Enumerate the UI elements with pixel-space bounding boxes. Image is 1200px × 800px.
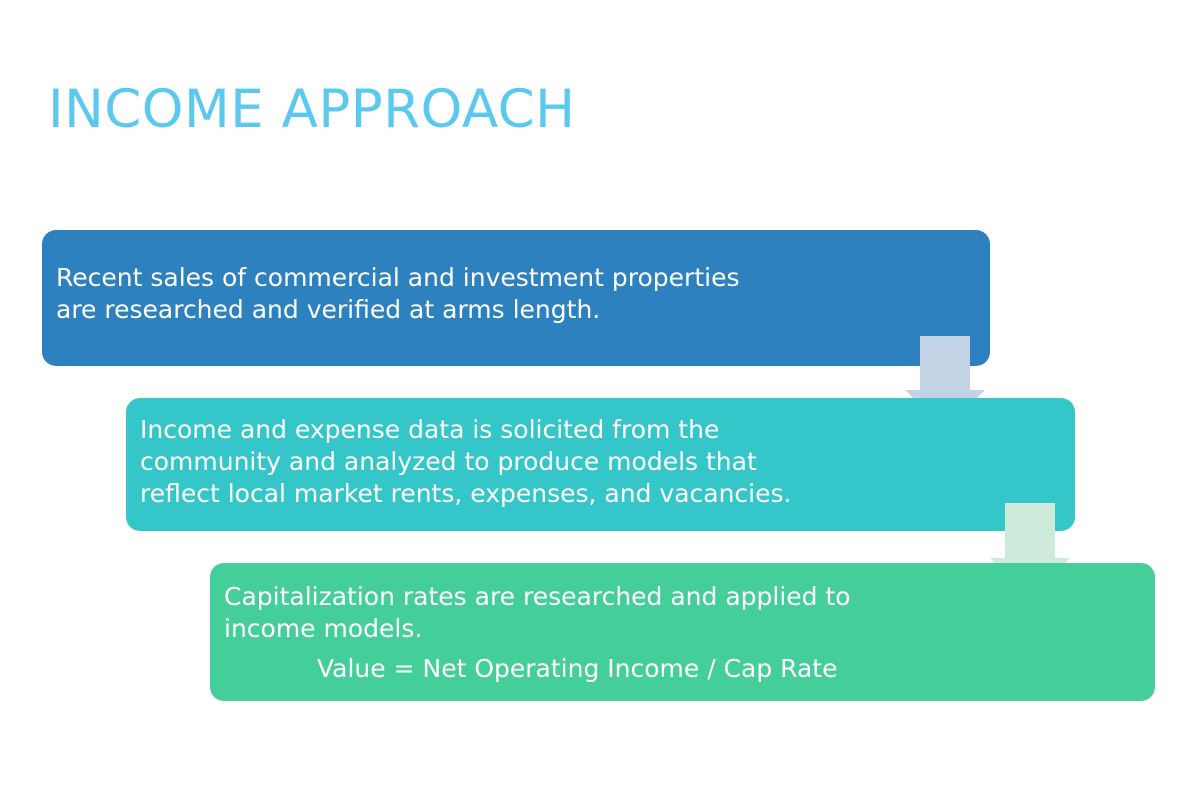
flow-step-3-label: Capitalization rates are researched and …: [224, 581, 1145, 645]
page-title: INCOME APPROACH: [48, 79, 576, 141]
flow-step-box-3[interactable]: Capitalization rates are researched and …: [210, 563, 1155, 701]
flow-step-1-label: Recent sales of commercial and investmen…: [56, 262, 980, 326]
flow-step-box-2[interactable]: Income and expense data is solicited fro…: [126, 398, 1075, 531]
flow-step-2-label: Income and expense data is solicited fro…: [140, 414, 1065, 510]
slide-canvas: INCOME APPROACH Recent sales of commerci…: [0, 0, 1200, 800]
flow-step-3-formula: Value = Net Operating Income / Cap Rate: [224, 653, 1145, 685]
flow-step-box-1[interactable]: Recent sales of commercial and investmen…: [42, 230, 990, 366]
